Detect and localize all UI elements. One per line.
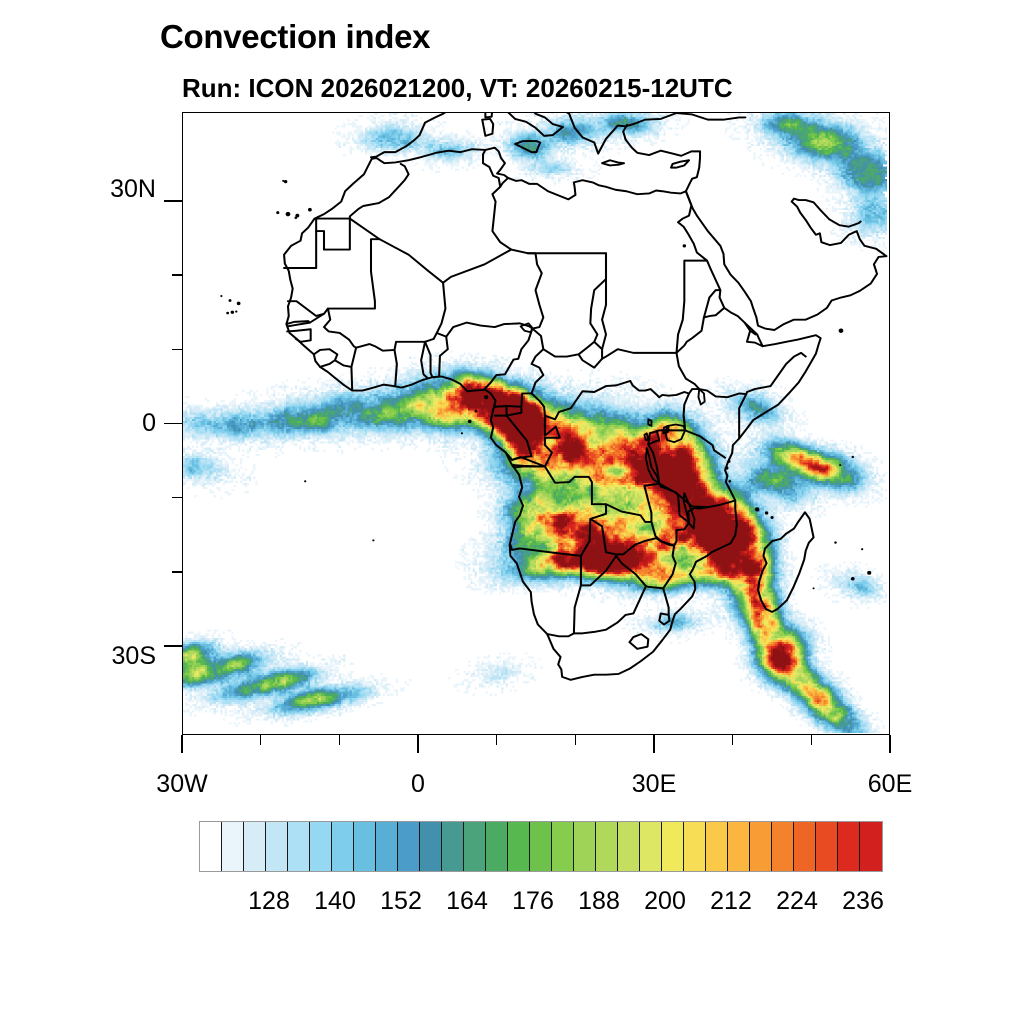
colorbar-cell bbox=[508, 822, 530, 871]
island-marker bbox=[728, 480, 731, 483]
y-axis-tick-label: 30S bbox=[112, 642, 156, 671]
colorbar-tick-label: 188 bbox=[578, 887, 620, 916]
colorbar-cell bbox=[398, 822, 420, 871]
colorbar-cell bbox=[684, 822, 706, 871]
colorbar-cell bbox=[772, 822, 794, 871]
colorbar-tick-label: 236 bbox=[842, 887, 884, 916]
x-axis-tick-label: 30W bbox=[156, 770, 207, 799]
island-marker bbox=[235, 310, 237, 312]
island-marker bbox=[237, 302, 241, 306]
y-axis-tick-label: 30N bbox=[110, 175, 156, 204]
colorbar-cell bbox=[244, 822, 266, 871]
x-tick-major bbox=[181, 735, 183, 753]
island-marker bbox=[461, 432, 463, 434]
colorbar-cell bbox=[618, 822, 640, 871]
y-tick-minor bbox=[172, 497, 182, 499]
island-marker bbox=[484, 395, 488, 399]
border-path bbox=[684, 416, 685, 422]
colorbar-cell bbox=[838, 822, 860, 871]
x-tick-minor bbox=[811, 735, 813, 745]
colorbar-cell bbox=[200, 822, 222, 871]
island-marker bbox=[755, 507, 759, 511]
island-marker bbox=[468, 420, 472, 424]
colorbar-cell bbox=[354, 822, 376, 871]
x-axis-tick-label: 0 bbox=[411, 770, 425, 799]
colorbar-cell bbox=[750, 822, 772, 871]
y-tick-major bbox=[164, 200, 182, 202]
island-marker bbox=[765, 511, 768, 514]
colorbar-cell bbox=[486, 822, 508, 871]
colorbar-cell bbox=[574, 822, 596, 871]
map-canvas bbox=[183, 113, 888, 733]
island-marker bbox=[867, 571, 871, 575]
x-tick-minor bbox=[575, 735, 577, 745]
colorbar-cell bbox=[706, 822, 728, 871]
island-marker bbox=[308, 208, 312, 212]
x-tick-minor bbox=[732, 735, 734, 745]
colorbar-tick-label: 176 bbox=[512, 887, 554, 916]
island-marker bbox=[725, 466, 729, 470]
island-marker bbox=[372, 539, 374, 541]
colorbar-tick-label: 200 bbox=[644, 887, 686, 916]
x-tick-minor bbox=[496, 735, 498, 745]
y-tick-major bbox=[164, 645, 182, 647]
island-marker bbox=[851, 577, 855, 581]
y-axis-tick-label: 0 bbox=[142, 409, 156, 438]
colorbar-cell bbox=[728, 822, 750, 871]
island-marker bbox=[834, 541, 837, 543]
colorbar-cell bbox=[332, 822, 354, 871]
colorbar-tick-label: 152 bbox=[380, 887, 422, 916]
colorbar-cell bbox=[552, 822, 574, 871]
island-marker bbox=[282, 180, 284, 182]
y-tick-minor bbox=[172, 571, 182, 573]
colorbar-cell bbox=[640, 822, 662, 871]
island-marker bbox=[304, 480, 306, 482]
island-marker bbox=[286, 212, 291, 216]
island-marker bbox=[231, 311, 234, 314]
chart-subtitle: Run: ICON 2026021200, VT: 20260215-12UTC bbox=[182, 73, 733, 104]
colorbar-tick-label: 164 bbox=[446, 887, 488, 916]
island-marker bbox=[220, 295, 222, 297]
island-marker bbox=[839, 464, 841, 466]
island-marker bbox=[226, 312, 229, 315]
colorbar-tick-label: 140 bbox=[314, 887, 356, 916]
island-marker bbox=[475, 410, 478, 413]
colorbar-cell bbox=[596, 822, 618, 871]
x-tick-major bbox=[889, 735, 891, 753]
x-tick-minor bbox=[260, 735, 262, 745]
colorbar-cell bbox=[662, 822, 684, 871]
island-marker bbox=[294, 217, 297, 220]
x-axis-tick-label: 30E bbox=[632, 770, 676, 799]
island-marker bbox=[727, 460, 730, 463]
colorbar-cell bbox=[288, 822, 310, 871]
x-tick-major bbox=[417, 735, 419, 753]
island-marker bbox=[229, 299, 232, 302]
colorbar-cell bbox=[420, 822, 442, 871]
colorbar-cell bbox=[376, 822, 398, 871]
island-marker bbox=[771, 516, 774, 519]
island-marker bbox=[276, 211, 279, 214]
colorbar-cell bbox=[794, 822, 816, 871]
island-marker bbox=[839, 329, 844, 333]
y-tick-major bbox=[164, 423, 182, 425]
colorbar-cell bbox=[860, 822, 882, 871]
island-marker bbox=[284, 180, 287, 183]
island-marker bbox=[861, 548, 863, 550]
colorbar-cell bbox=[530, 822, 552, 871]
map-plot-area bbox=[182, 112, 890, 735]
island-marker bbox=[813, 587, 815, 589]
x-tick-minor bbox=[339, 735, 341, 745]
page-title: Convection index bbox=[160, 18, 430, 56]
colorbar-tick-label: 128 bbox=[248, 887, 290, 916]
colorbar-cell bbox=[222, 822, 244, 871]
colorbar-cell bbox=[266, 822, 288, 871]
border-path bbox=[495, 406, 507, 407]
x-tick-major bbox=[653, 735, 655, 753]
colorbar-tick-label: 224 bbox=[776, 887, 818, 916]
y-tick-minor bbox=[172, 274, 182, 276]
colorbar-cell bbox=[464, 822, 486, 871]
colorbar[interactable] bbox=[199, 821, 883, 872]
island-marker bbox=[851, 456, 854, 458]
weather-map-figure: Convection index Run: ICON 2026021200, V… bbox=[0, 0, 1024, 1024]
island-marker bbox=[683, 244, 686, 247]
colorbar-cell bbox=[442, 822, 464, 871]
colorbar-tick-label: 212 bbox=[710, 887, 752, 916]
colorbar-cell bbox=[310, 822, 332, 871]
colorbar-cell bbox=[816, 822, 838, 871]
x-axis-tick-label: 60E bbox=[868, 770, 912, 799]
y-tick-minor bbox=[172, 349, 182, 351]
